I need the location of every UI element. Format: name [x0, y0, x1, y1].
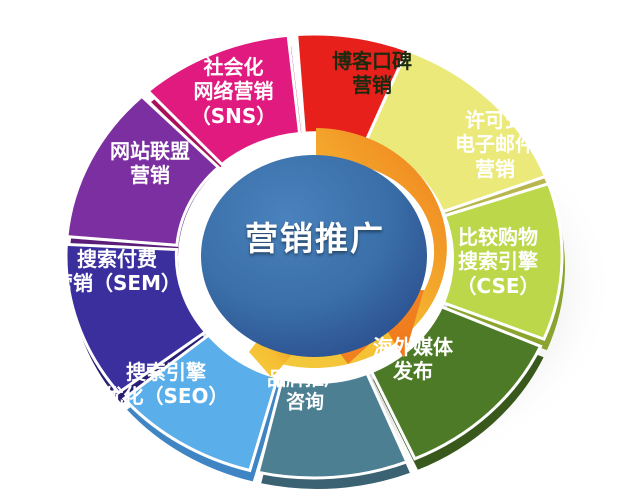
center-label: 营销推广: [190, 222, 440, 255]
infographic-canvas: 营销推广 博客口碑 营销许可式 电子邮件 营销比较购物 搜索引擎 （CSE）海外…: [0, 0, 640, 497]
